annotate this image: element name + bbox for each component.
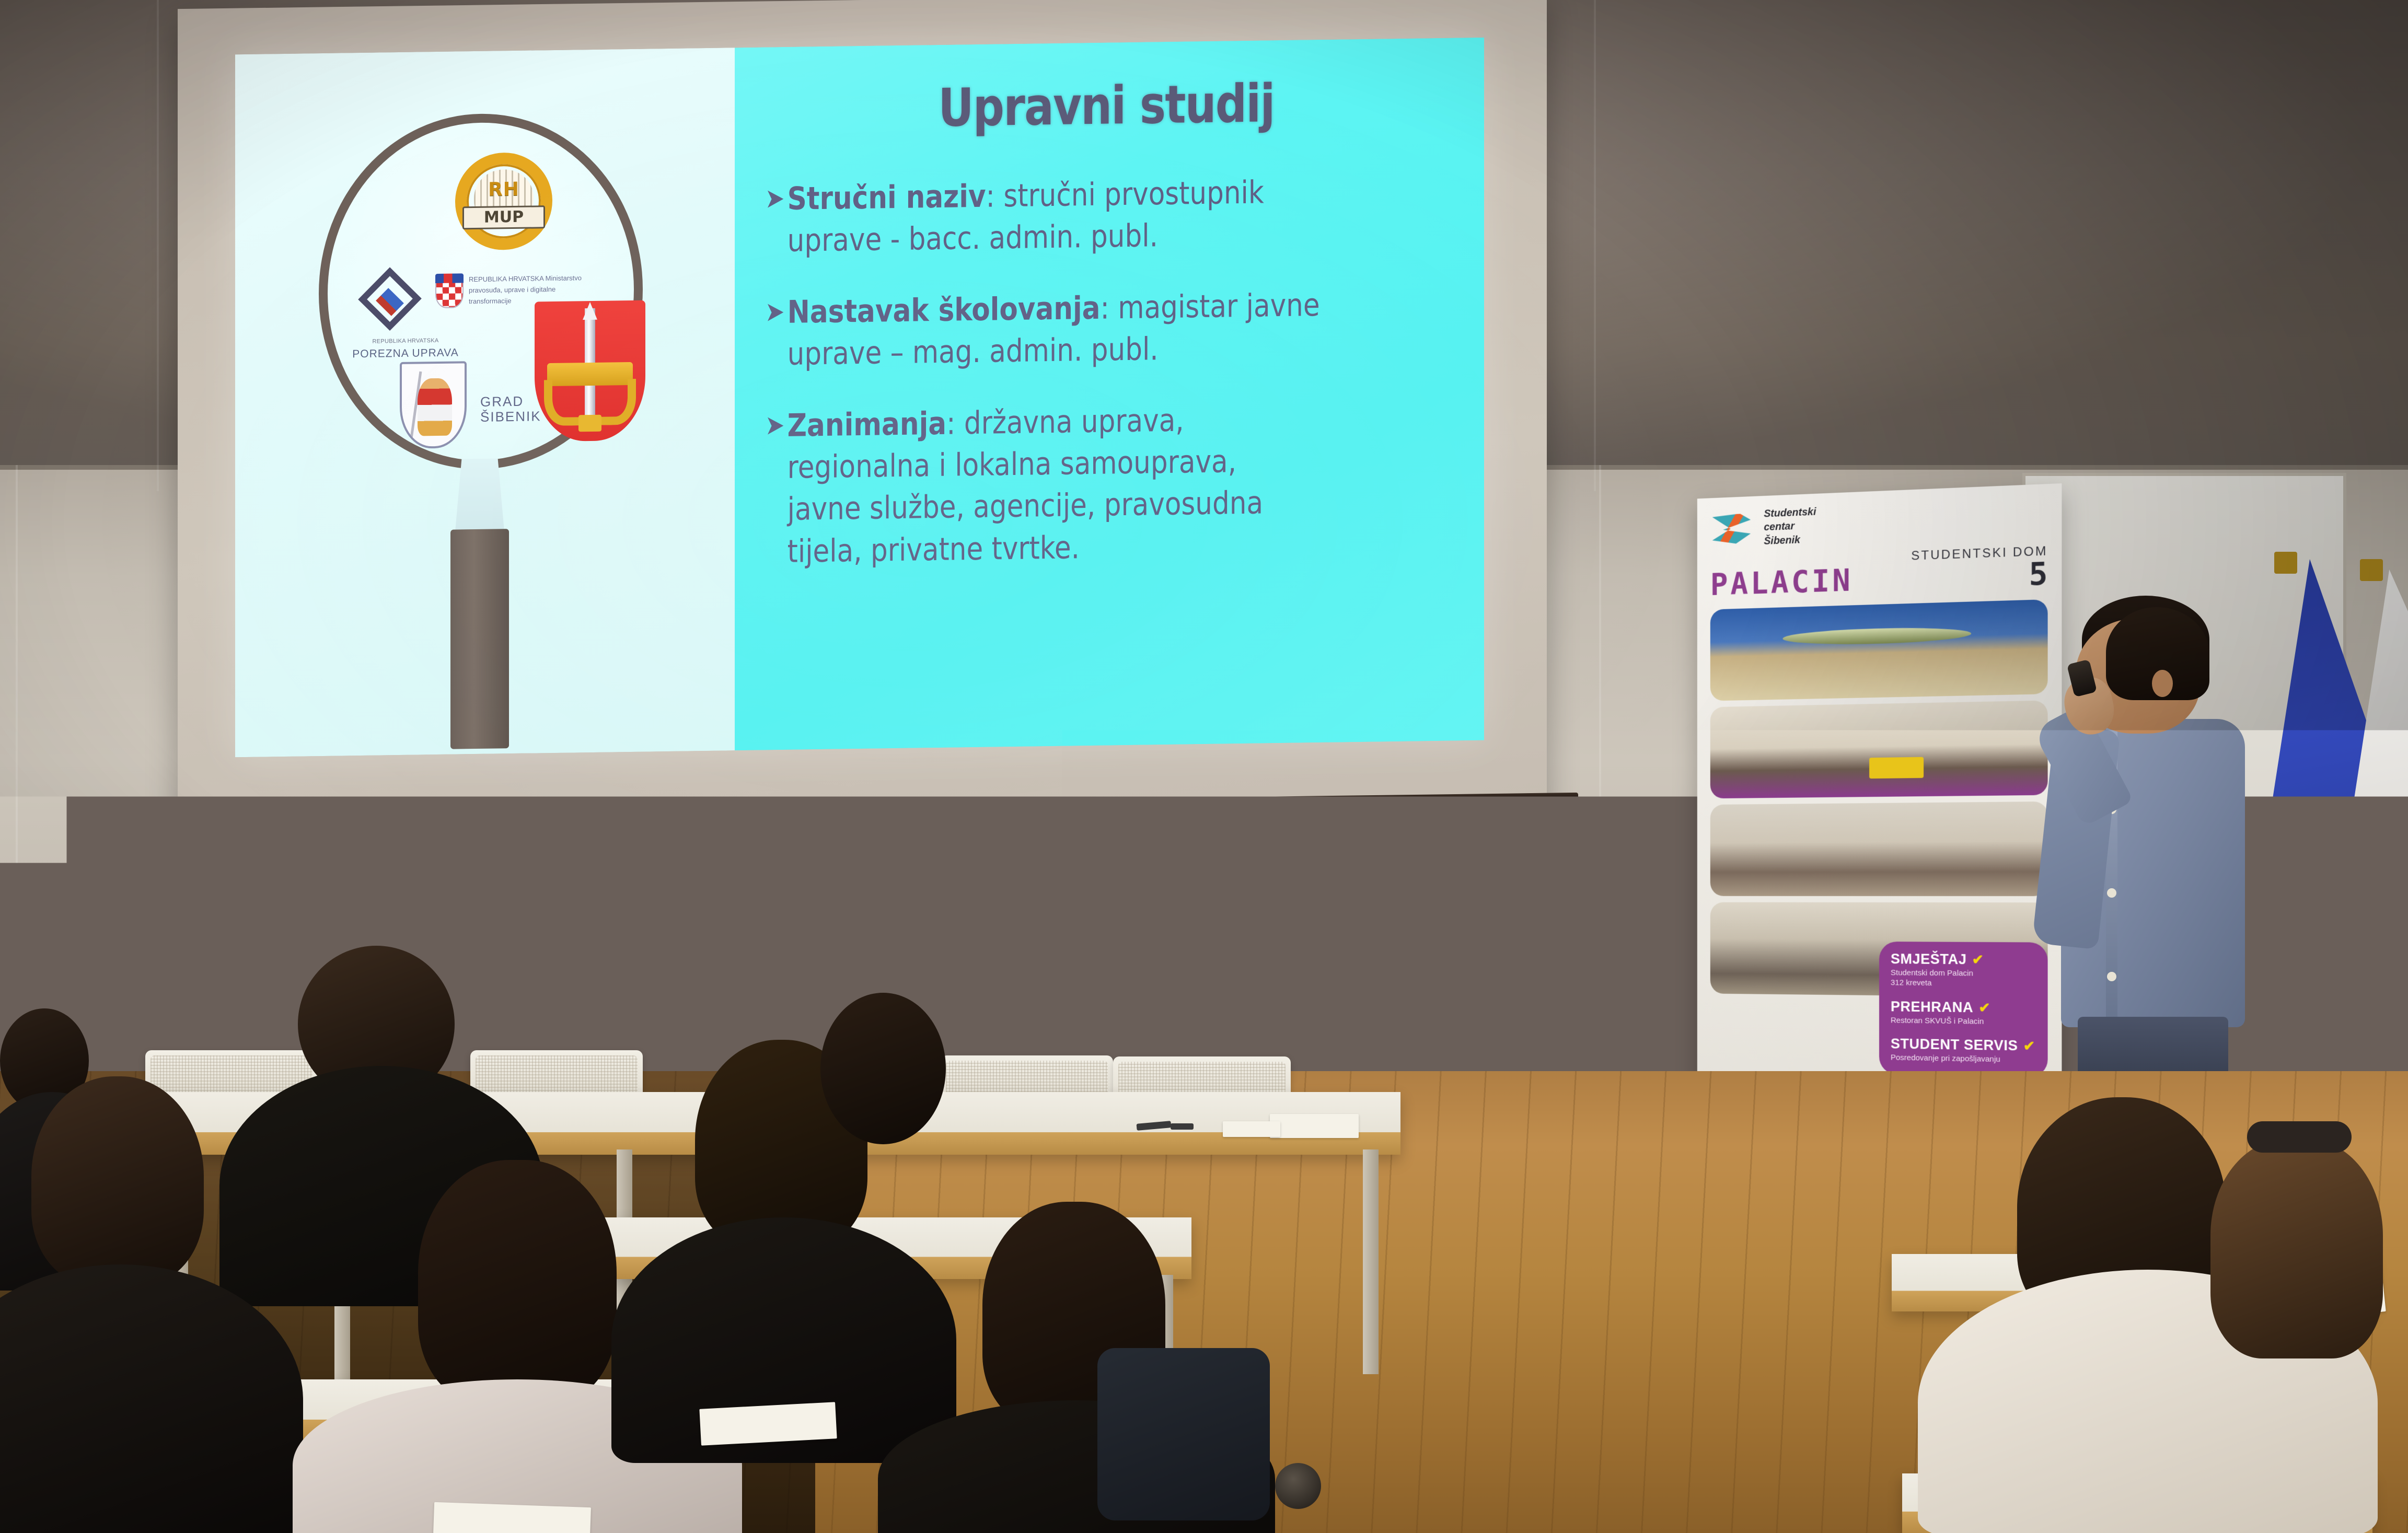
bullet-line: uprave – mag. admin. publ. [788,331,1159,373]
org-line-3: Šibenik [1764,532,1816,548]
presenter [2028,596,2273,1087]
croatian-checkerboard-shield-icon [435,273,464,308]
rh-mup-emblem: RH MUP [444,149,564,255]
bullet-sep: : [946,405,964,442]
service-detail: Posredovanje pri zapošljavanju [1891,1053,2037,1066]
lecture-hall-scene: RH MUP REPUBLIKA HRVATSKA POREZNA UPRAVA… [0,0,2408,1533]
bullet-label: Stručni naziv [788,178,986,217]
bullet-label: Zanimanja [788,405,946,444]
shirt-button [2107,888,2116,898]
bullet-line: magistar javne [1118,287,1319,326]
banner-photo-strip [1710,599,2048,997]
wall-joint [1594,0,1596,491]
service-title: PREHRANA✔ [1891,998,2037,1017]
slide-bullet-list: ➤ Stručni naziv: stručni prvostupnik upr… [765,169,1448,573]
org-line-2: centar [1764,519,1816,535]
sibenik-coat-of-arms-icon [400,361,467,449]
exterior-terrace-photo [1710,599,2048,701]
lounge-interior-photo [1710,701,2048,799]
org-line-1: Studentski [1764,505,1816,521]
sunglasses-on-head-icon [2247,1121,2352,1153]
mup-rh-text: RH [474,178,534,201]
bullet-sep: : [986,178,1004,214]
bullet-arrow-icon: ➤ [765,292,784,333]
scs-s-logo-icon [1710,510,1757,548]
bullet-line: tijela, privatne tvrtke. [788,529,1080,570]
wall-seam [0,976,1385,979]
presentation-slide: RH MUP REPUBLIKA HRVATSKA POREZNA UPRAVA… [235,38,1484,758]
service-detail: Studentski dom Palacin312 kreveta [1891,968,2037,989]
service-title: SMJEŠTAJ✔ [1891,951,2037,968]
paper-sheet[interactable] [699,1402,837,1446]
bullet-label: Nastavak školovanja [788,290,1101,331]
diamond-icon [358,267,422,331]
flag-pole-finial [2274,552,2297,574]
bullet-item: ➤ Stručni naziv: stručni prvostupnik upr… [765,170,1352,262]
sword-pommel [578,415,601,432]
bullet-item: ➤ Nastavak školovanja: magistar javne up… [765,284,1352,376]
desk-leg [1363,1149,1379,1374]
bullet-arrow-icon: ➤ [765,178,784,219]
audience-head [31,1076,204,1285]
banner-org-name: Studentski centar Šibenik [1764,505,1816,548]
magnifier-lens: RH MUP REPUBLIKA HRVATSKA POREZNA UPRAVA… [319,112,643,471]
bullet-item: ➤ Zanimanja: državna uprava, regionalna … [765,397,1352,573]
magnifier-handle [450,529,509,749]
paper-sheet[interactable] [1223,1121,1280,1137]
banner-brand-numeral: 5 [2029,556,2048,593]
paper-sheet[interactable] [433,1502,591,1533]
check-icon: ✔ [1972,951,1984,967]
banner-services-panel: SMJEŠTAJ✔ Studentski dom Palacin312 krev… [1879,942,2048,1077]
banner-brand: PALACIN [1710,563,1853,602]
magnifying-glass-icon: RH MUP REPUBLIKA HRVATSKA POREZNA UPRAVA… [298,111,664,733]
bullet-line: javne službe, agencije, pravosudna [788,485,1263,528]
bullet-line: uprave - bacc. admin. publ. [788,218,1158,260]
county-coat-of-arms-icon [535,300,645,442]
bullet-line: regionalna i lokalna samouprava, [788,443,1236,486]
crown-arm-right [601,379,636,425]
audience-head [820,993,946,1144]
white-wall-box [847,907,903,945]
bullet-sep: : [1101,289,1118,326]
banner-org-row: Studentski centar Šibenik [1710,496,2048,550]
check-icon: ✔ [1978,1000,1990,1016]
bullet-line: stručni prvostupnik [1003,174,1264,214]
wall-joint [16,465,18,1082]
porezna-label: POREZNA UPRAVA [351,346,460,361]
slide-title: Upravni studij [819,71,1393,140]
saint-figure-icon [418,378,452,436]
paper-sheet[interactable] [1270,1114,1359,1138]
slide-left-panel: RH MUP REPUBLIKA HRVATSKA POREZNA UPRAVA… [235,48,735,757]
audience-head [418,1160,617,1406]
service-detail: Restoran SKVUŠ i Palacin [1891,1016,2037,1028]
audience-head [2210,1139,2383,1358]
flag-pole-finial [2360,559,2383,581]
bullet-line: državna uprava, [964,402,1184,442]
dorm-room-photo [1710,802,2048,896]
projection-screen: RH MUP REPUBLIKA HRVATSKA POREZNA UPRAVA… [178,0,1547,841]
slide-right-panel: Upravni studij ➤ Stručni naziv: stručni … [735,38,1484,751]
presenter-ear [2152,670,2173,697]
crown-arm-left [544,379,578,426]
wall-joint [157,0,159,491]
mup-label: MUP [462,207,545,227]
shirt-button [2107,972,2116,981]
service-title: STUDENT SERVIS✔ [1891,1036,2037,1055]
pen[interactable] [1171,1123,1194,1130]
bullet-arrow-icon: ➤ [765,405,784,446]
magnifier-neck [455,458,505,537]
chair-wheel [1275,1463,1321,1509]
backpack[interactable] [1097,1348,1270,1520]
porezna-uprava-logo: REPUBLIKA HRVATSKA POREZNA UPRAVA [360,271,423,334]
wall-joint [1599,465,1601,1082]
porezna-sub-label: REPUBLIKA HRVATSKA [351,337,460,345]
